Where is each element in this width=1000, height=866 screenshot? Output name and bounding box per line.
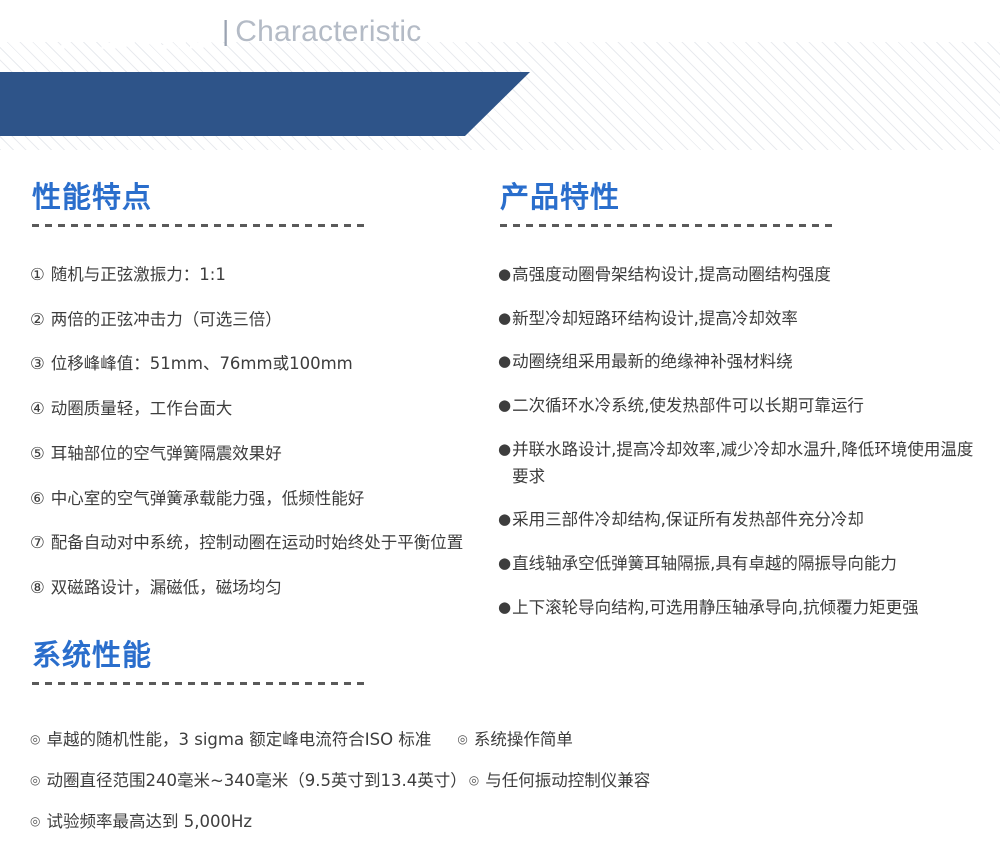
list-item-text: 二次循环水冷系统,使发热部件可以长期可靠运行 [512, 393, 988, 420]
list-marker: ④ [30, 396, 45, 423]
list-marker: ⑦ [30, 530, 45, 557]
list-item-text: 中心室的空气弹簧承载能力强，低频性能好 [51, 486, 490, 513]
bullet-icon: ● [498, 306, 511, 332]
list-item-text: 动圈直径范围240毫米~340毫米（9.5英寸到13.4英寸） [46, 769, 466, 794]
list-item: ③ 位移峰峰值：51mm、76mm或100mm [30, 351, 490, 378]
list-item-text: 两倍的正弦冲击力（可选三倍） [51, 307, 490, 334]
section-heading-product: 产品特性 [500, 182, 838, 227]
list-item: ● 采用三部件冷却结构,保证所有发热部件充分冷却 [498, 507, 988, 534]
list-item-text: 位移峰峰值：51mm、76mm或100mm [51, 351, 490, 378]
banner-text-group: 产品特点 | Characteristic [60, 0, 421, 64]
dashed-rule [32, 682, 370, 685]
list-marker: ⑧ [30, 575, 45, 602]
list-item: ◎ 试验频率最高达到 5,000Hz [30, 810, 252, 835]
list-item: ⑧ 双磁路设计，漏磁低，磁场均匀 [30, 575, 490, 602]
list-item: ⑥ 中心室的空气弹簧承载能力强，低频性能好 [30, 486, 490, 513]
system-performance-list: ◎ 卓越的随机性能，3 sigma 额定峰电流符合ISO 标准 ◎ 系统操作简单… [30, 728, 990, 850]
list-item: ◎ 卓越的随机性能，3 sigma 额定峰电流符合ISO 标准 [30, 728, 431, 753]
list-item-text: 并联水路设计,提高冷却效率,减少冷却水温升,降低环境使用温度要求 [512, 437, 988, 490]
bullet-icon: ● [498, 551, 511, 577]
list-item-text: 与任何振动控制仪兼容 [485, 769, 650, 794]
list-row: ◎ 动圈直径范围240毫米~340毫米（9.5英寸到13.4英寸） ◎ 与任何振… [30, 769, 990, 794]
list-item: ④ 动圈质量轻，工作台面大 [30, 396, 490, 423]
bullet-icon: ● [498, 393, 511, 419]
list-marker: ③ [30, 351, 45, 378]
list-marker: ① [30, 262, 45, 289]
dashed-rule [32, 224, 370, 227]
list-item: ● 高强度动圈骨架结构设计,提高动圈结构强度 [498, 262, 988, 289]
ring-bullet-icon: ◎ [469, 771, 479, 789]
list-item: ● 上下滚轮导向结构,可选用静压轴承导向,抗倾覆力矩更强 [498, 595, 988, 622]
ring-bullet-icon: ◎ [30, 730, 40, 748]
list-item-text: 高强度动圈骨架结构设计,提高动圈结构强度 [512, 262, 988, 289]
page-header: 产品特点 | Characteristic [0, 0, 1000, 160]
list-item: ◎ 动圈直径范围240毫米~340毫米（9.5英寸到13.4英寸） [30, 769, 467, 794]
list-row: ◎ 试验频率最高达到 5,000Hz [30, 810, 990, 835]
bullet-icon: ● [498, 507, 511, 533]
list-item: ◎ 与任何振动控制仪兼容 [469, 769, 650, 794]
section-title-performance: 性能特点 [32, 182, 370, 214]
list-item: ● 二次循环水冷系统,使发热部件可以长期可靠运行 [498, 393, 988, 420]
list-item-text: 动圈质量轻，工作台面大 [51, 396, 490, 423]
list-item-text: 耳轴部位的空气弹簧隔震效果好 [51, 441, 490, 468]
banner-title-en: Characteristic [235, 17, 421, 47]
performance-feature-list: ① 随机与正弦激振力：1:1 ② 两倍的正弦冲击力（可选三倍） ③ 位移峰峰值：… [30, 262, 490, 620]
bullet-icon: ● [498, 595, 511, 621]
section-title-product: 产品特性 [500, 182, 838, 214]
list-item: ◎ 系统操作简单 [457, 728, 572, 753]
section-heading-system: 系统性能 [32, 640, 370, 685]
list-row: ◎ 卓越的随机性能，3 sigma 额定峰电流符合ISO 标准 ◎ 系统操作简单 [30, 728, 990, 753]
bullet-icon: ● [498, 262, 511, 288]
list-item-text: 配备自动对中系统，控制动圈在运动时始终处于平衡位置 [51, 530, 490, 557]
list-item: ● 并联水路设计,提高冷却效率,减少冷却水温升,降低环境使用温度要求 [498, 437, 988, 490]
ring-bullet-icon: ◎ [30, 812, 40, 830]
list-marker: ⑥ [30, 486, 45, 513]
dashed-rule [500, 224, 838, 227]
bullet-icon: ● [498, 349, 511, 375]
list-item-text: 双磁路设计，漏磁低，磁场均匀 [51, 575, 490, 602]
section-title-system: 系统性能 [32, 640, 370, 672]
list-item-text: 系统操作简单 [474, 728, 573, 753]
list-item: ② 两倍的正弦冲击力（可选三倍） [30, 307, 490, 334]
bullet-icon: ● [498, 437, 511, 463]
list-item-text: 随机与正弦激振力：1:1 [51, 262, 490, 289]
list-item-text: 上下滚轮导向结构,可选用静压轴承导向,抗倾覆力矩更强 [512, 595, 988, 622]
list-item-text: 新型冷却短路环结构设计,提高冷却效率 [512, 306, 988, 333]
list-item: ● 新型冷却短路环结构设计,提高冷却效率 [498, 306, 988, 333]
list-item-text: 试验频率最高达到 5,000Hz [46, 810, 252, 835]
list-item-text: 采用三部件冷却结构,保证所有发热部件充分冷却 [512, 507, 988, 534]
section-heading-performance: 性能特点 [32, 182, 370, 227]
ring-bullet-icon: ◎ [30, 771, 40, 789]
list-marker: ② [30, 307, 45, 334]
list-item: ● 动圈绕组采用最新的绝缘神补强材料绕 [498, 349, 988, 376]
list-item-text: 直线轴承空低弹簧耳轴隔振,具有卓越的隔振导向能力 [512, 551, 988, 578]
list-item: ⑦ 配备自动对中系统，控制动圈在运动时始终处于平衡位置 [30, 530, 490, 557]
list-item: ● 直线轴承空低弹簧耳轴隔振,具有卓越的隔振导向能力 [498, 551, 988, 578]
ring-bullet-icon: ◎ [457, 730, 467, 748]
list-item: ⑤ 耳轴部位的空气弹簧隔震效果好 [30, 441, 490, 468]
section-banner [0, 72, 530, 136]
product-feature-list: ● 高强度动圈骨架结构设计,提高动圈结构强度 ● 新型冷却短路环结构设计,提高冷… [498, 262, 988, 638]
list-marker: ⑤ [30, 441, 45, 468]
banner-separator: | [222, 17, 229, 45]
list-item-text: 卓越的随机性能，3 sigma 额定峰电流符合ISO 标准 [46, 728, 431, 753]
list-item: ① 随机与正弦激振力：1:1 [30, 262, 490, 289]
banner-title-cn: 产品特点 [60, 13, 216, 51]
list-item-text: 动圈绕组采用最新的绝缘神补强材料绕 [512, 349, 988, 376]
